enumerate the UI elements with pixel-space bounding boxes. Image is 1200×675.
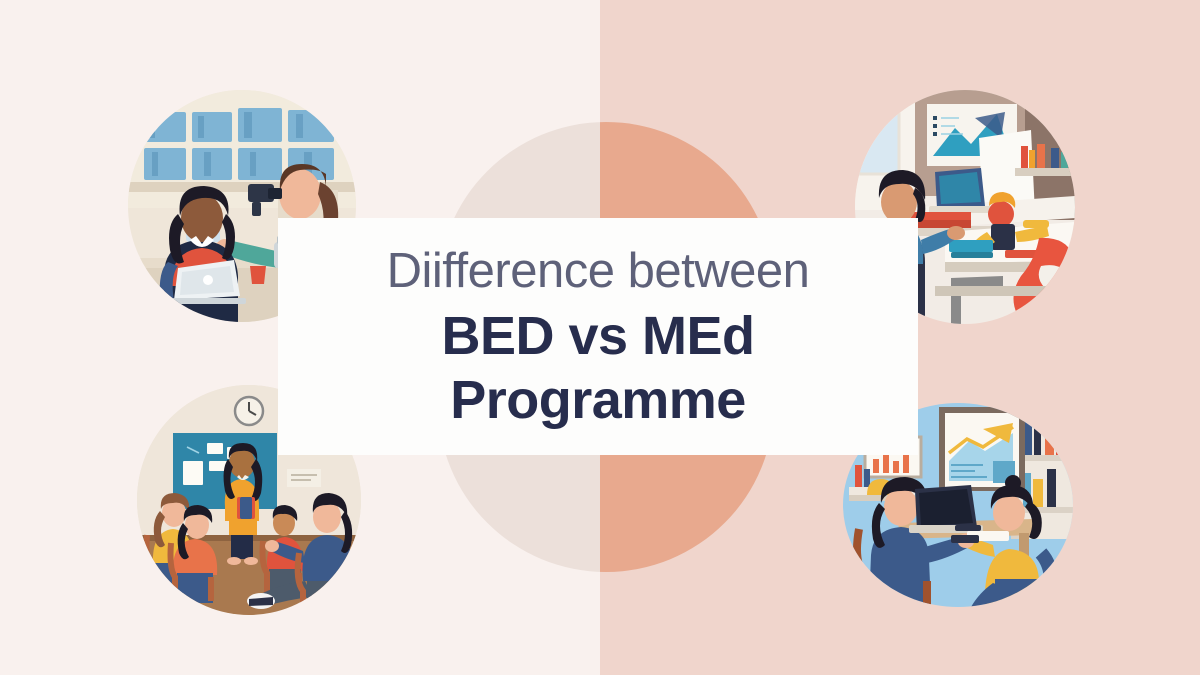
title-subheading: Diifference between <box>387 244 810 299</box>
title-card: Diifference between BED vs MEd Programme <box>278 218 918 455</box>
title-heading-secondary: Programme <box>450 369 746 433</box>
title-heading-primary: BED vs MEd <box>441 305 754 369</box>
slide-canvas: Diifference between BED vs MEd Programme <box>0 0 1200 675</box>
